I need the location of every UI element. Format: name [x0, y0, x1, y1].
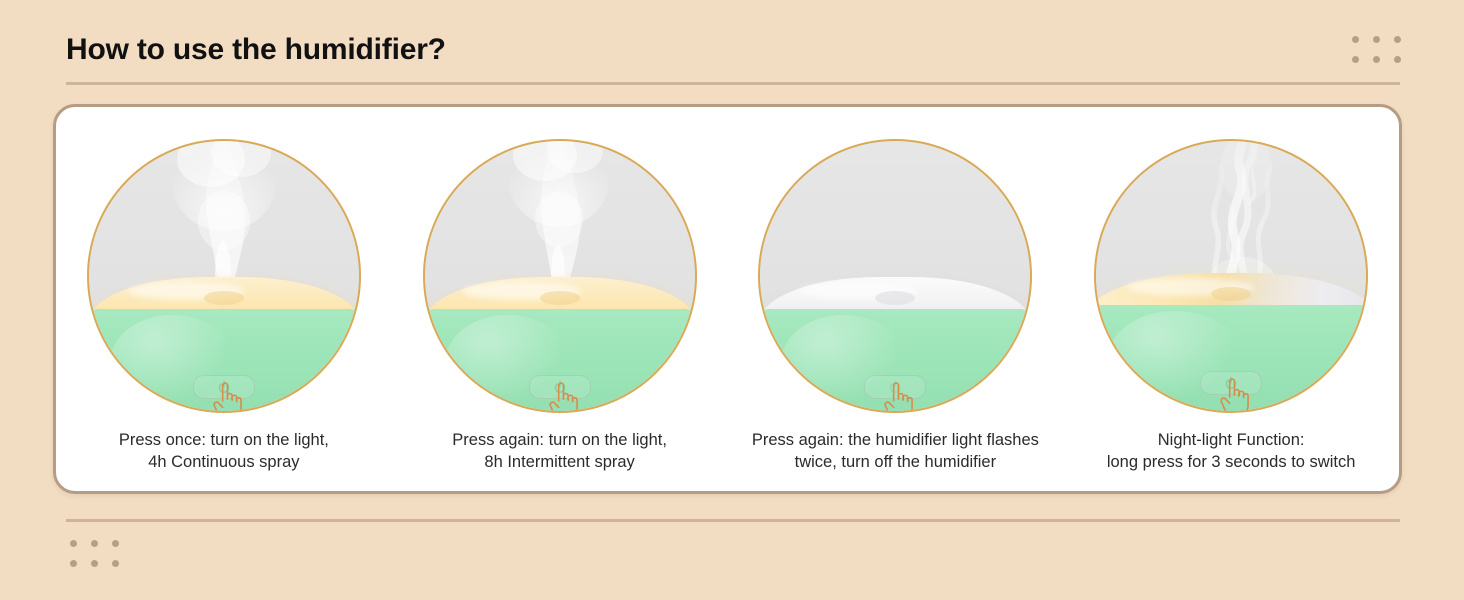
decorative-dots-bottom-left	[70, 540, 119, 567]
dot	[1373, 56, 1380, 63]
decorative-dots-top-right	[1352, 36, 1401, 63]
hand-pointer-icon	[544, 379, 580, 411]
dot	[1352, 56, 1359, 63]
humidifier-spraying-icon	[423, 139, 697, 413]
hand-pointer-icon	[1215, 375, 1251, 411]
dot	[91, 560, 98, 567]
step-item: Press again: turn on the light, 8h Inter…	[394, 139, 726, 474]
step-item: Press once: turn on the light, 4h Contin…	[58, 139, 390, 474]
step-item: Press again: the humidifier light flashe…	[729, 139, 1061, 474]
dot	[1394, 56, 1401, 63]
humidifier-body	[760, 309, 1030, 411]
step-caption: Press again: turn on the light, 8h Inter…	[452, 429, 667, 474]
dot	[1394, 36, 1401, 43]
humidifier-device	[1096, 269, 1366, 411]
humidifier-body	[1096, 305, 1366, 411]
dot	[1352, 36, 1359, 43]
step-caption: Press once: turn on the light, 4h Contin…	[119, 429, 329, 474]
step-caption: Night-light Function: long press for 3 s…	[1107, 429, 1356, 474]
mist-nozzle	[1211, 287, 1251, 301]
humidifier-device	[760, 273, 1030, 411]
dot	[70, 560, 77, 567]
steps-row: Press once: turn on the light, 4h Contin…	[56, 107, 1399, 491]
mist-nozzle	[540, 291, 580, 305]
step-item: Night-light Function: long press for 3 s…	[1065, 139, 1397, 474]
step-caption: Press again: the humidifier light flashe…	[752, 429, 1039, 474]
page-header: How to use the humidifier?	[0, 0, 1464, 86]
instructions-card: Press once: turn on the light, 4h Contin…	[53, 104, 1402, 494]
dot	[70, 540, 77, 547]
humidifier-body	[425, 309, 695, 411]
dot	[91, 540, 98, 547]
humidifier-night-light-icon	[1094, 139, 1368, 413]
header-divider	[66, 82, 1400, 85]
mist-nozzle	[204, 291, 244, 305]
dot	[112, 560, 119, 567]
mist-nozzle	[875, 291, 915, 305]
humidifier-device	[425, 273, 695, 411]
humidifier-device	[89, 273, 359, 411]
humidifier-spraying-icon	[87, 139, 361, 413]
footer-divider	[66, 519, 1400, 522]
dot	[1373, 36, 1380, 43]
hand-pointer-icon	[880, 379, 916, 411]
humidifier-off-icon	[758, 139, 1032, 413]
page-title: How to use the humidifier?	[66, 33, 446, 67]
dot	[112, 540, 119, 547]
humidifier-body	[89, 309, 359, 411]
hand-pointer-icon	[208, 379, 244, 411]
